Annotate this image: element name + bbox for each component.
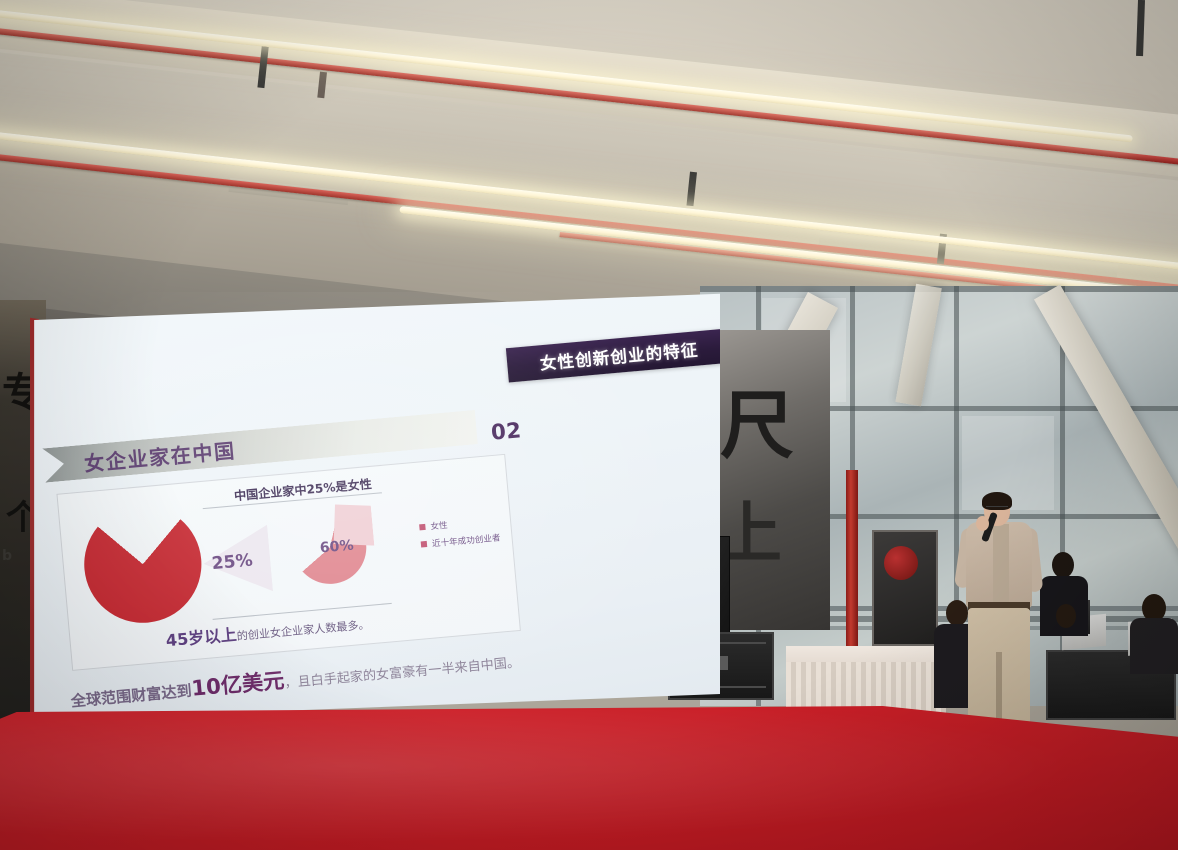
stage-highlight	[0, 706, 1178, 850]
presentation-photo-scene: 专 个 b 尺 上	[0, 0, 1178, 850]
presenter-shirt	[993, 524, 1009, 602]
crew-head	[1052, 552, 1074, 578]
chart-caption-bottom: 45岁以上的创业女企业家人数最多。	[165, 609, 371, 651]
projection-screen: 女性创新创业的特征 女企业家在中国 02 25% 60%	[30, 292, 720, 722]
caption-emphasis: 45岁以上	[165, 625, 237, 650]
slide-content: 女性创新创业的特征 女企业家在中国 02 25% 60%	[9, 260, 742, 755]
legend-swatch-icon	[419, 524, 426, 531]
section-number: 02	[490, 418, 523, 445]
caption-rest: 的创业女企业家人数最多。	[236, 618, 370, 643]
pipe-drop	[1136, 0, 1145, 56]
display-case-graphic	[884, 546, 918, 580]
presenter-eyeglasses	[986, 506, 1008, 512]
screen-surface: 女性创新创业的特征 女企业家在中国 02 25% 60%	[30, 292, 720, 722]
pie-label-25: 25%	[211, 550, 254, 574]
crew-body	[1130, 618, 1178, 674]
legend-item: 近十年成功创业者	[420, 531, 501, 550]
banner-glyph: 尺	[720, 366, 794, 473]
legend-label: 近十年成功创业者	[431, 531, 501, 549]
pie-chart-female-share	[79, 501, 206, 628]
legend-swatch-icon	[421, 541, 428, 548]
slide-title-text: 女性创新创业的特征	[539, 336, 700, 374]
section-ribbon-label: 女企业家在中国	[83, 434, 237, 477]
legend-item: 女性	[419, 514, 500, 533]
footer-highlight: 10亿美元	[190, 668, 285, 700]
person-head	[946, 600, 968, 626]
legend-label: 女性	[430, 519, 448, 533]
crew-head	[1056, 604, 1076, 628]
chart-legend: 女性 近十年成功创业者	[419, 514, 502, 555]
chart-panel: 25% 60% 中国企业家中25%是女性 45岁以上的创业女企业家人数最多。	[56, 454, 520, 671]
footer-part1: 全球范围财富达到	[70, 682, 192, 711]
red-column	[846, 470, 858, 650]
presenter-hand	[976, 516, 989, 531]
pie-label-60: 60%	[319, 537, 354, 556]
banner-glyph: b	[2, 548, 12, 564]
slide-title-chip: 女性创新创业的特征	[506, 328, 732, 382]
footer-part3: ，且白手起家的女富豪有一半来自中国。	[284, 655, 521, 691]
